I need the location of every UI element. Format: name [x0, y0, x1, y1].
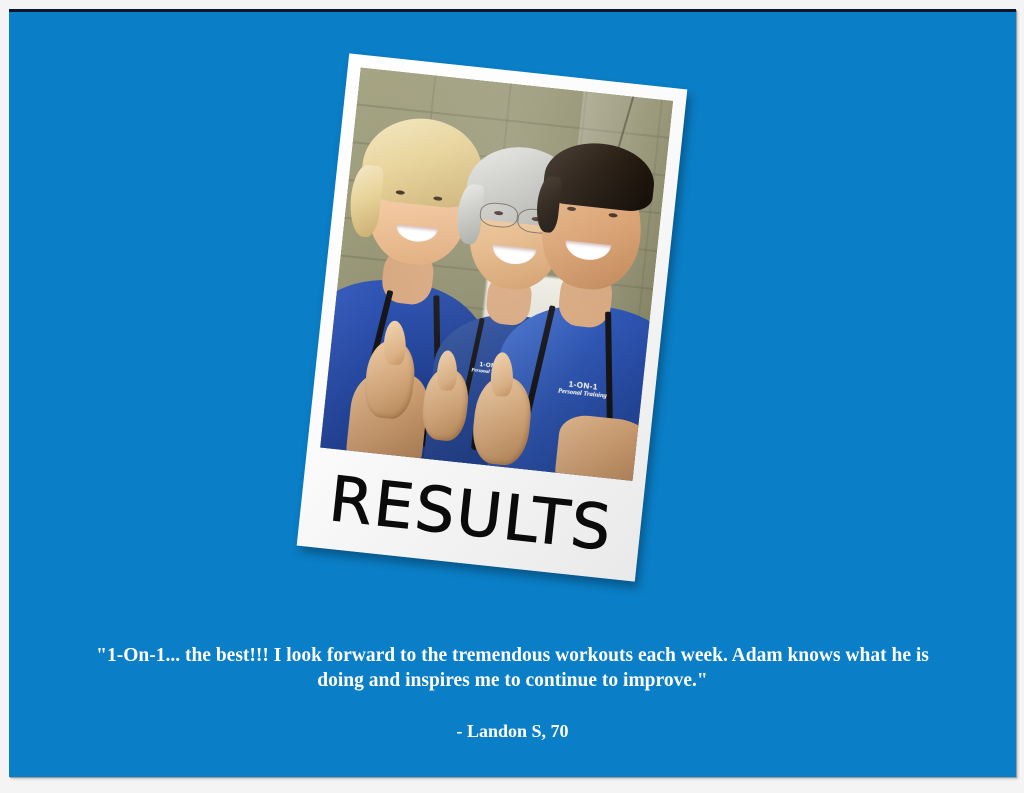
thumbs-up-woman	[384, 321, 406, 365]
page-canvas: 1-ON-1 Personal Training	[9, 9, 1016, 777]
testimonial-block: "1-On-1... the best!!! I look forward to…	[9, 644, 1016, 742]
caption-text: RESULTS	[326, 468, 615, 560]
polaroid-photo-card[interactable]: 1-ON-1 Personal Training	[297, 53, 688, 581]
polaroid-frame: 1-ON-1 Personal Training	[297, 53, 688, 581]
testimonial-attribution: - Landon S, 70	[9, 721, 1016, 742]
testimonial-quote: "1-On-1... the best!!! I look forward to…	[73, 644, 953, 694]
arm-man-right	[554, 413, 657, 481]
photo-image: 1-ON-1 Personal Training	[320, 68, 673, 481]
page-frame: 1-ON-1 Personal Training	[0, 0, 1024, 793]
